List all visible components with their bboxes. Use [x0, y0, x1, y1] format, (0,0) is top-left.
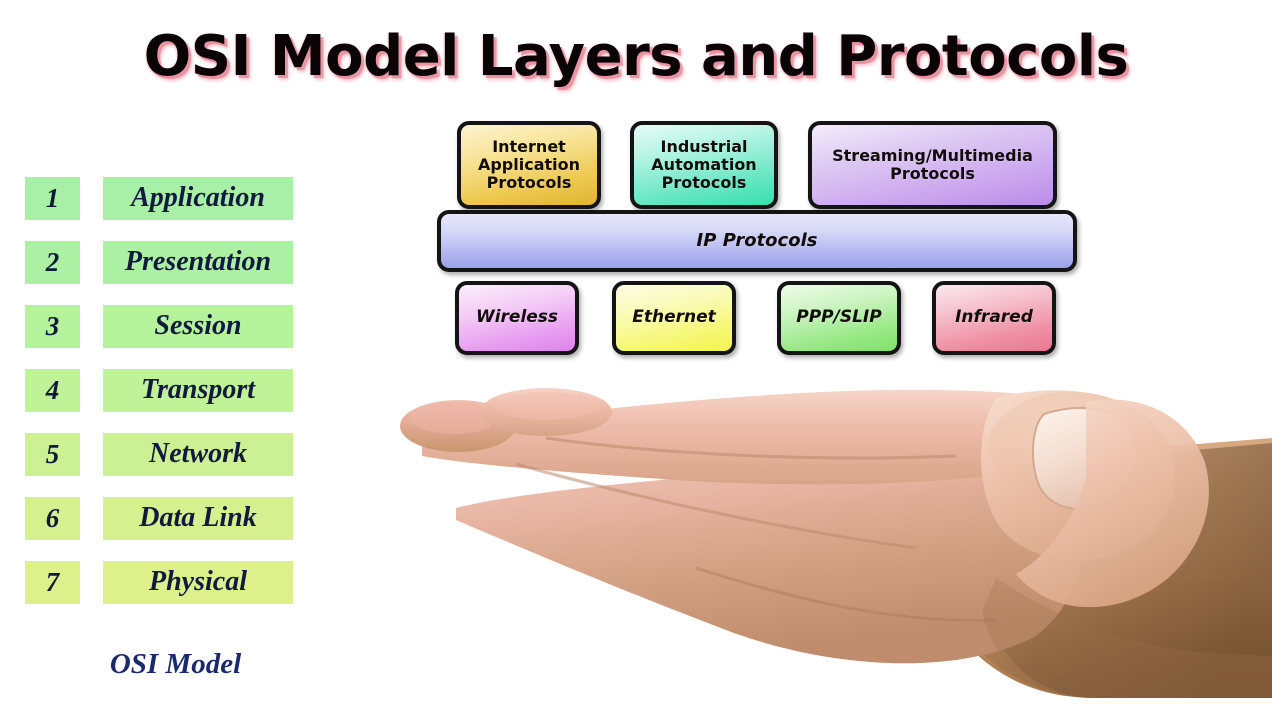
protocol-box-label: Infrared — [951, 308, 1037, 327]
protocol-box-line: Industrial — [651, 138, 756, 156]
protocol-box-line: Protocols — [832, 165, 1033, 183]
protocol-box-label: Ethernet — [628, 308, 720, 327]
osi-layer-name: Session — [103, 305, 293, 348]
osi-model-caption: OSI Model — [78, 648, 273, 681]
protocol-box-industrial-automation: Industrial Automation Protocols — [630, 121, 778, 209]
protocol-box-ppp-slip: PPP/SLIP — [777, 281, 901, 355]
osi-layer-row-3: 3 Session — [25, 305, 295, 348]
osi-layer-row-2: 2 Presentation — [25, 241, 295, 284]
fingertip-second-highlight — [494, 392, 598, 420]
osi-layer-number: 3 — [25, 305, 80, 348]
osi-layer-number: 6 — [25, 497, 80, 540]
osi-layer-row-6: 6 Data Link — [25, 497, 295, 540]
osi-layer-name: Presentation — [103, 241, 293, 284]
osi-layer-row-5: 5 Network — [25, 433, 295, 476]
osi-layer-number: 4 — [25, 369, 80, 412]
protocol-box-line: Protocols — [651, 174, 756, 192]
protocol-box-ethernet: Ethernet — [612, 281, 736, 355]
osi-layer-name: Application — [103, 177, 293, 220]
open-hand-illustration — [396, 368, 1272, 720]
osi-layer-row-7: 7 Physical — [25, 561, 295, 604]
osi-layer-number: 1 — [25, 177, 80, 220]
slide-canvas: OSI Model Layers and Protocols 1 Applica… — [0, 0, 1272, 720]
osi-layer-number: 7 — [25, 561, 80, 604]
osi-layer-name: Transport — [103, 369, 293, 412]
osi-layer-row-1: 1 Application — [25, 177, 295, 220]
protocol-box-line: Automation — [651, 156, 756, 174]
osi-layer-name: Physical — [103, 561, 293, 604]
osi-layer-table: 1 Application 2 Presentation 3 Session 4… — [25, 177, 295, 625]
protocol-box-wireless: Wireless — [455, 281, 579, 355]
protocol-box-line: Protocols — [478, 174, 580, 192]
osi-layer-name: Data Link — [103, 497, 293, 540]
protocol-box-internet-application: Internet Application Protocols — [457, 121, 601, 209]
protocol-box-line: Internet — [478, 138, 580, 156]
protocol-box-ip-protocols: IP Protocols — [437, 210, 1077, 272]
protocol-box-infrared: Infrared — [932, 281, 1056, 355]
osi-layer-number: 2 — [25, 241, 80, 284]
protocol-box-label: PPP/SLIP — [792, 308, 885, 327]
osi-layer-row-4: 4 Transport — [25, 369, 295, 412]
protocol-box-label: Wireless — [472, 308, 562, 327]
protocol-box-line: Streaming/Multimedia — [832, 147, 1033, 165]
osi-layer-number: 5 — [25, 433, 80, 476]
page-title: OSI Model Layers and Protocols — [0, 24, 1272, 89]
osi-layer-name: Network — [103, 433, 293, 476]
protocol-box-label: IP Protocols — [693, 231, 822, 251]
protocol-box-line: Application — [478, 156, 580, 174]
protocol-box-streaming-multimedia: Streaming/Multimedia Protocols — [808, 121, 1057, 209]
